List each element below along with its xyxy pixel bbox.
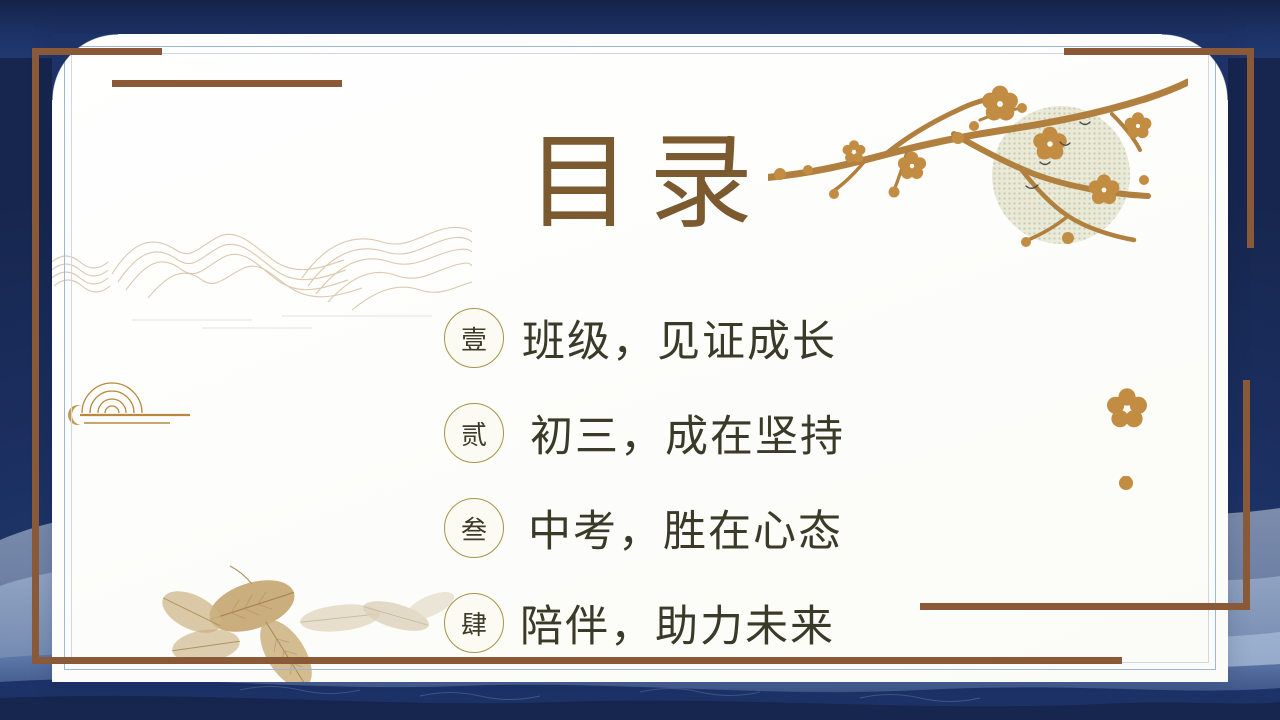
toc-label-4: 陪伴，助力未来 bbox=[520, 592, 835, 654]
toc-numeral-badge-3: 叁 bbox=[444, 498, 504, 558]
gold-arc-ornament-icon bbox=[60, 359, 210, 439]
table-of-contents-list: 壹 班级，见证成长 贰 初三，成在坚持 叁 中考，胜在心态 肆 陪伴，助力未来 bbox=[444, 302, 1004, 682]
page-title: 目录 bbox=[52, 130, 1228, 234]
corner-bracket-bottom-horizontal bbox=[32, 654, 1122, 664]
toc-label-2: 初三，成在坚持 bbox=[530, 402, 845, 464]
corner-bracket-left-vertical bbox=[32, 48, 42, 664]
corner-bracket-top-left-outer bbox=[32, 48, 162, 168]
toc-numeral-badge-1: 壹 bbox=[444, 308, 504, 368]
toc-numeral-badge-2: 贰 bbox=[444, 403, 504, 463]
toc-item-3[interactable]: 叁 中考，胜在心态 bbox=[444, 492, 1004, 564]
toc-item-4[interactable]: 肆 陪伴，助力未来 bbox=[444, 587, 1004, 659]
plum-flower-icon bbox=[1104, 386, 1150, 432]
presentation-slide: 目录 壹 班级，见证成长 贰 初三，成在坚持 叁 中考，胜在心态 肆 陪伴， bbox=[0, 0, 1280, 720]
corner-bracket-top-right-vertical bbox=[1244, 48, 1254, 248]
corner-bracket-bottom-right-horizontal bbox=[920, 600, 1250, 610]
toc-item-2[interactable]: 贰 初三，成在坚持 bbox=[444, 397, 1004, 469]
toc-label-3: 中考，胜在心态 bbox=[528, 497, 843, 559]
corner-bracket-top-right-horizontal bbox=[1064, 48, 1254, 58]
toc-label-1: 班级，见证成长 bbox=[522, 307, 837, 369]
corner-bracket-bottom-right-vertical bbox=[1240, 380, 1250, 610]
content-panel: 目录 壹 班级，见证成长 贰 初三，成在坚持 叁 中考，胜在心态 肆 陪伴， bbox=[52, 34, 1228, 682]
corner-bracket-top-left-inner bbox=[112, 80, 342, 90]
toc-item-1[interactable]: 壹 班级，见证成长 bbox=[444, 302, 1004, 374]
toc-numeral-badge-4: 肆 bbox=[444, 593, 504, 653]
mountain-lineart-icon bbox=[52, 216, 472, 346]
plum-bud-icon bbox=[1116, 472, 1136, 492]
